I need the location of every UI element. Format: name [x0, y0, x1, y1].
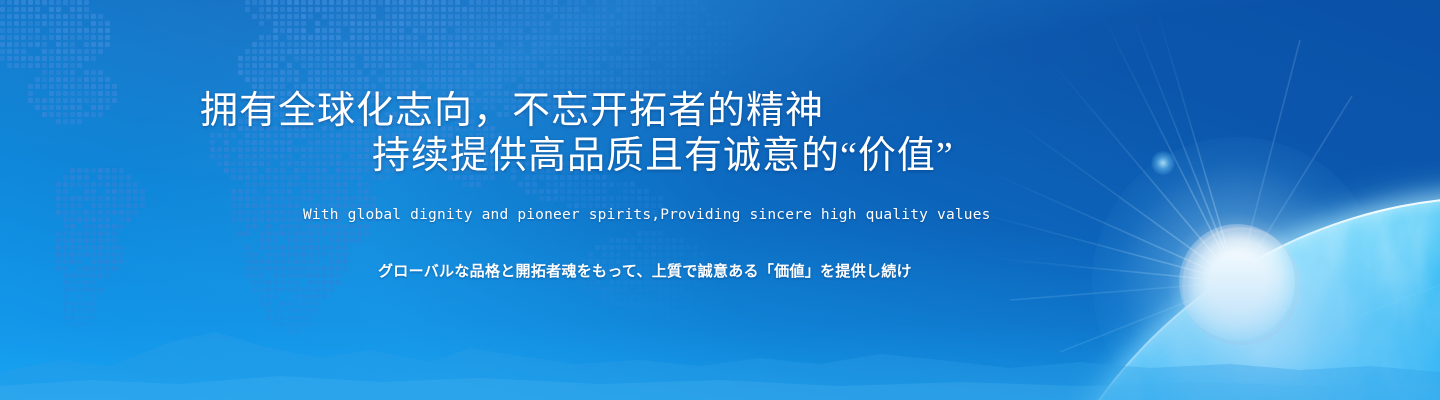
headline-line-1: 拥有全球化志向，不忘开拓者的精神 — [200, 92, 824, 130]
banner-copy: 拥有全球化志向，不忘开拓者的精神 持续提供高品质且有诚意的“价值” With g… — [0, 0, 1440, 400]
headline-line-2: 持续提供高品质且有诚意的“价值” — [372, 137, 954, 175]
subtitle-japanese: グローバルな品格と開拓者魂をもって、上質で誠意ある「価値」を提供し続け — [378, 260, 912, 281]
subtitle-english: With global dignity and pioneer spirits,… — [303, 207, 991, 223]
hero-banner: 拥有全球化志向，不忘开拓者的精神 持续提供高品质且有诚意的“价值” With g… — [0, 0, 1440, 400]
